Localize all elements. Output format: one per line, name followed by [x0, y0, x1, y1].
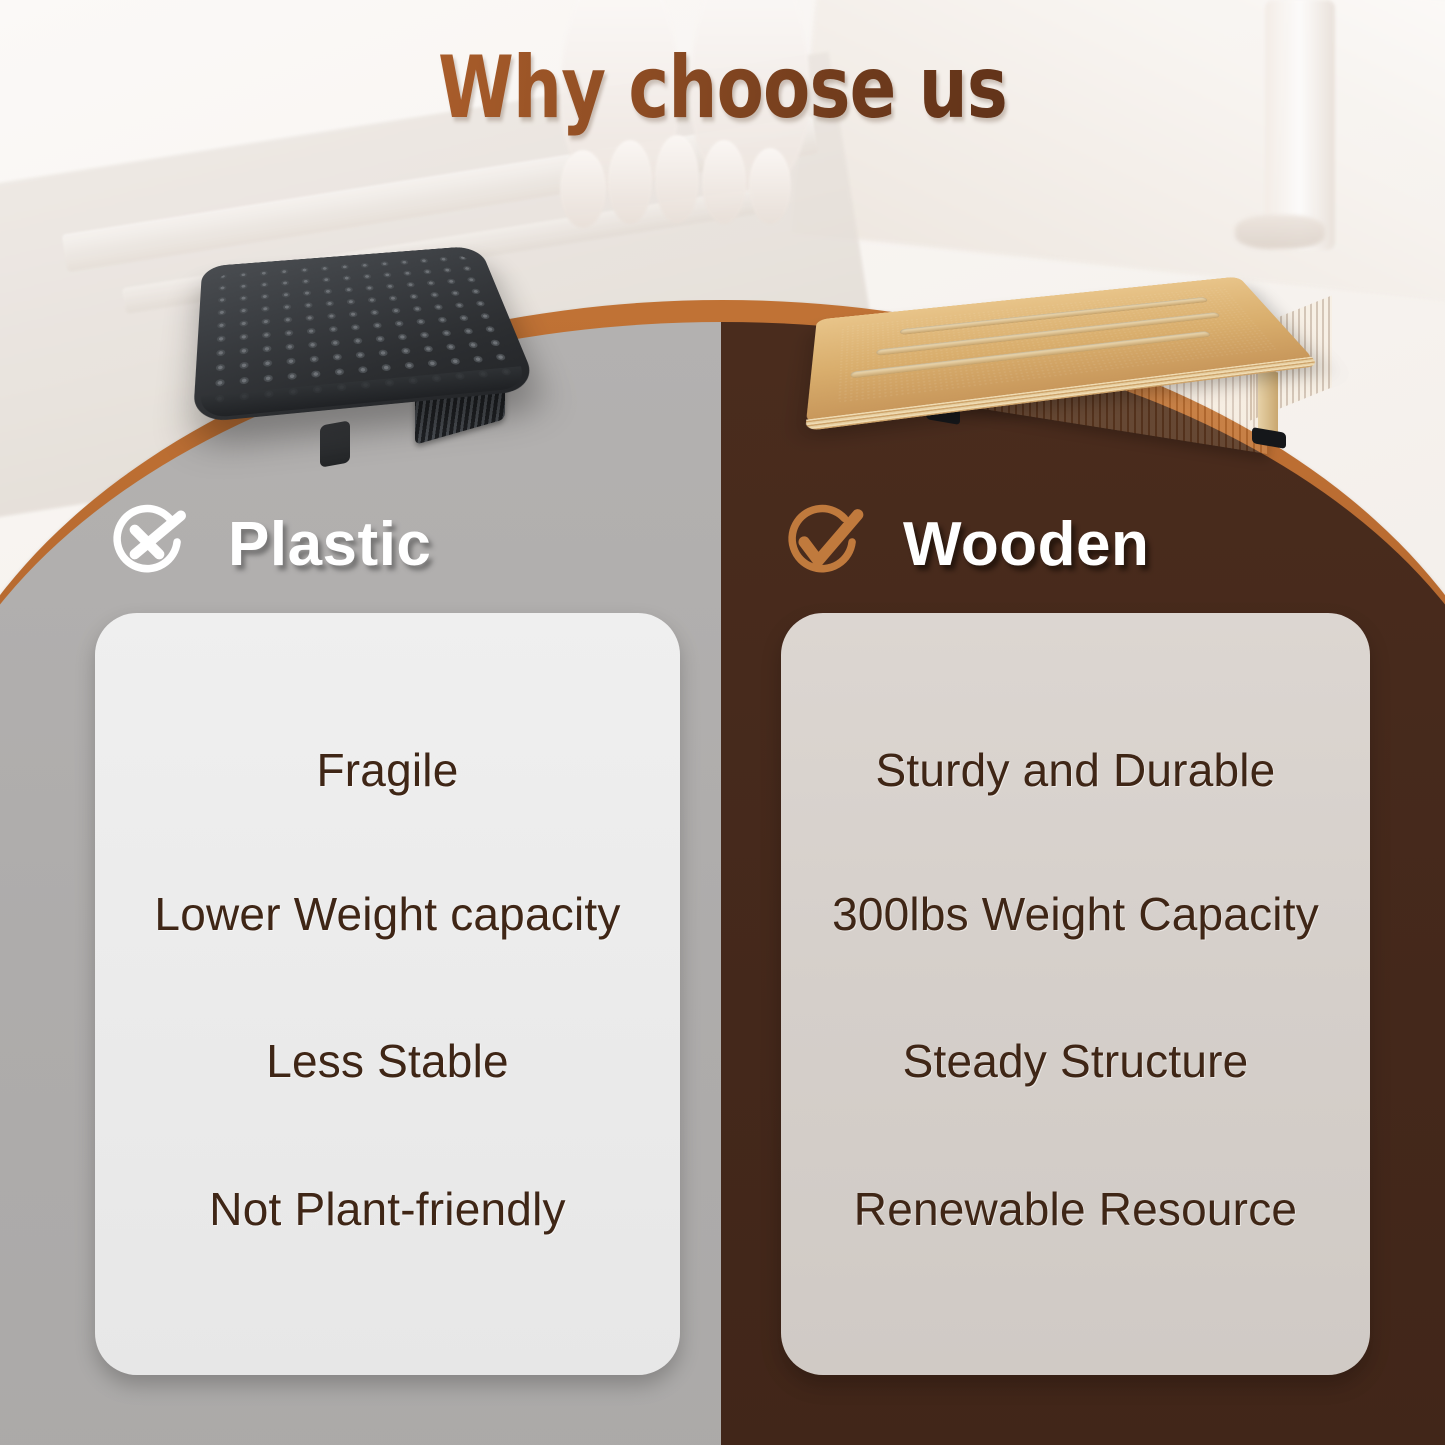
toe-4 [702, 140, 746, 224]
page-title: Why choose us [145, 38, 1301, 138]
infographic-root: Why choose us [0, 0, 1445, 1445]
toe-2 [608, 140, 652, 224]
plastic-column-header: Plastic [100, 495, 431, 594]
plastic-column-label: Plastic [228, 514, 431, 576]
toe-5 [749, 148, 791, 224]
toe-3 [655, 135, 699, 223]
circle-check-icon [775, 495, 869, 594]
wooden-column-header: Wooden [775, 495, 1149, 594]
circle-x-icon [100, 495, 194, 594]
plastic-feature-card: Fragile Lower Weight capacity Less Stabl… [95, 613, 680, 1375]
plastic-base-foot [320, 420, 350, 467]
list-item: Steady Structure [781, 1036, 1370, 1087]
list-item: Less Stable [95, 1036, 680, 1087]
plastic-footrest-image [200, 195, 530, 485]
wooden-column-label: Wooden [903, 514, 1149, 576]
list-item: 300lbs Weight Capacity [781, 889, 1370, 940]
wooden-feature-card: Sturdy and Durable 300lbs Weight Capacit… [781, 613, 1370, 1375]
list-item: Sturdy and Durable [781, 745, 1370, 796]
toe-1 [560, 150, 606, 228]
list-item: Renewable Resource [781, 1184, 1370, 1235]
wooden-footrest-image [820, 250, 1340, 455]
list-item: Not Plant-friendly [95, 1184, 680, 1235]
desk-leg-base [1235, 215, 1325, 249]
list-item: Fragile [95, 745, 680, 796]
wooden-leg-right [1258, 368, 1278, 437]
list-item: Lower Weight capacity [95, 889, 680, 940]
